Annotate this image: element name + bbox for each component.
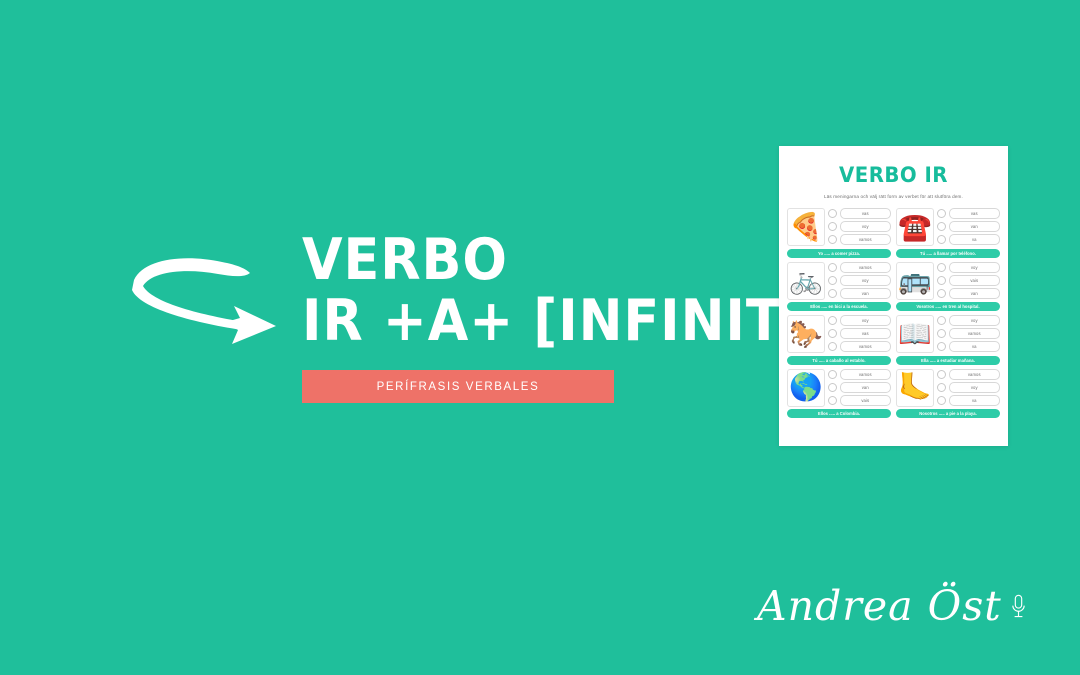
hero-block: VERBO IR +A+ [INFINITIVO] PERÍFRASIS VER…	[302, 233, 802, 403]
option-label[interactable]: voy	[949, 315, 1001, 326]
colombia-flag-globe-image: 🌎	[787, 369, 825, 407]
option-label[interactable]: vamos	[840, 234, 892, 245]
option-label[interactable]: vamos	[840, 262, 892, 273]
exercise-sentence: Ella ..... a estudiar mañana.	[896, 356, 1000, 365]
option-radio-button[interactable]	[828, 289, 837, 298]
worksheet-exercise-item: 🐎voyvasvamosTú ..... a caballo al establ…	[787, 315, 891, 365]
bicycle-icon: 🚲	[789, 267, 823, 294]
option-row: vamos	[937, 369, 1000, 380]
option-label[interactable]: vamos	[840, 369, 892, 380]
exercise-sentence: Vosotros ..... en tren al hospital.	[896, 302, 1000, 311]
bicycle-image: 🚲	[787, 262, 825, 300]
option-radio-button[interactable]	[937, 383, 946, 392]
option-row: vamos	[828, 369, 891, 380]
option-radio-button[interactable]	[828, 316, 837, 325]
bus-icon: 🚌	[898, 267, 932, 294]
option-label[interactable]: van	[840, 288, 892, 299]
option-label[interactable]: va	[949, 234, 1001, 245]
option-radio-button[interactable]	[937, 289, 946, 298]
exercise-row: 🦶vamosvoyva	[896, 369, 1000, 407]
telephone-image: ☎️	[896, 208, 934, 246]
option-radio-button[interactable]	[937, 370, 946, 379]
worksheet-exercise-item: 🌎vamosvanvaisEllos ..... a Colombia.	[787, 369, 891, 419]
option-row: voy	[828, 315, 891, 326]
option-radio-button[interactable]	[937, 342, 946, 351]
worksheet-exercise-item: 🍕vasvoyvamosYo ..... a comer pizza.	[787, 208, 891, 258]
option-label[interactable]: voy	[840, 275, 892, 286]
option-radio-button[interactable]	[828, 383, 837, 392]
exercise-row: 🍕vasvoyvamos	[787, 208, 891, 246]
bus-image: 🚌	[896, 262, 934, 300]
worksheet-preview-card[interactable]: VERBO IR Läs meningarna och välj rätt fo…	[779, 146, 1008, 446]
option-label[interactable]: van	[949, 288, 1001, 299]
worksheet-subtitle: Läs meningarna och välj rätt form av ver…	[779, 194, 1008, 199]
option-row: vais	[937, 275, 1000, 286]
option-row: va	[937, 395, 1000, 406]
page-title-line2: IR +A+ [INFINITIVO]	[302, 294, 762, 349]
option-row: vamos	[828, 341, 891, 352]
option-label[interactable]: va	[949, 395, 1001, 406]
worksheet-exercise-item: 🚌voyvaisvanVosotros ..... en tren al hos…	[896, 262, 1000, 312]
horse-image: 🐎	[787, 315, 825, 353]
option-radio-button[interactable]	[937, 316, 946, 325]
option-row: voy	[828, 275, 891, 286]
option-row: vas	[937, 208, 1000, 219]
option-radio-button[interactable]	[937, 276, 946, 285]
exercise-row: ☎️vasvanva	[896, 208, 1000, 246]
curved-arrow-icon	[126, 248, 292, 348]
option-label[interactable]: vamos	[840, 341, 892, 352]
option-row: voy	[937, 315, 1000, 326]
open-book-image: 📖	[896, 315, 934, 353]
option-label[interactable]: van	[840, 382, 892, 393]
worksheet-title: VERBO IR	[786, 163, 1001, 187]
option-label[interactable]: va	[949, 341, 1001, 352]
exercise-row: 🐎voyvasvamos	[787, 315, 891, 353]
option-row: vamos	[937, 328, 1000, 339]
option-list: vasvanva	[937, 208, 1000, 245]
telephone-icon: ☎️	[898, 214, 932, 241]
option-list: vasvoyvamos	[828, 208, 891, 245]
colombia-flag-globe-icon: 🌎	[789, 374, 823, 401]
foot-icon: 🦶	[898, 374, 932, 401]
option-label[interactable]: voy	[949, 382, 1001, 393]
page-title-line1: VERBO	[302, 233, 762, 288]
option-row: vais	[828, 395, 891, 406]
option-label[interactable]: vas	[949, 208, 1001, 219]
exercise-sentence: Tú ..... a caballo al establo.	[787, 356, 891, 365]
option-radio-button[interactable]	[828, 209, 837, 218]
option-radio-button[interactable]	[828, 370, 837, 379]
option-label[interactable]: voy	[949, 262, 1001, 273]
subtitle-badge: PERÍFRASIS VERBALES	[302, 370, 614, 403]
option-row: va	[937, 341, 1000, 352]
exercise-sentence: Nosotros ..... a pie a la playa.	[896, 409, 1000, 418]
option-radio-button[interactable]	[828, 342, 837, 351]
option-radio-button[interactable]	[937, 329, 946, 338]
option-radio-button[interactable]	[937, 396, 946, 405]
option-row: van	[937, 221, 1000, 232]
option-radio-button[interactable]	[828, 222, 837, 231]
option-radio-button[interactable]	[828, 329, 837, 338]
exercise-row: 📖voyvamosva	[896, 315, 1000, 353]
worksheet-exercise-item: 🦶vamosvoyvaNosotros ..... a pie a la pla…	[896, 369, 1000, 419]
exercise-sentence: Tú ..... a llamar por teléfono.	[896, 249, 1000, 258]
option-row: vamos	[828, 234, 891, 245]
horse-icon: 🐎	[789, 321, 823, 348]
option-label[interactable]: van	[949, 221, 1001, 232]
brand-signature: Andrea Öst	[757, 586, 1027, 627]
option-list: voyvaisvan	[937, 262, 1000, 299]
option-label[interactable]: vas	[840, 328, 892, 339]
option-row: vamos	[828, 262, 891, 273]
subtitle-badge-label: PERÍFRASIS VERBALES	[377, 381, 540, 393]
option-radio-button[interactable]	[937, 263, 946, 272]
exercise-row: 🚲vamosvoyvan	[787, 262, 891, 300]
exercise-row: 🌎vamosvanvais	[787, 369, 891, 407]
option-label[interactable]: vais	[840, 395, 892, 406]
option-radio-button[interactable]	[937, 209, 946, 218]
option-row: vas	[828, 208, 891, 219]
exercise-sentence: Yo ..... a comer pizza.	[787, 249, 891, 258]
option-row: voy	[828, 221, 891, 232]
option-label[interactable]: voy	[840, 315, 892, 326]
worksheet-exercise-item: ☎️vasvanvaTú ..... a llamar por teléfono…	[896, 208, 1000, 258]
option-radio-button[interactable]	[828, 235, 837, 244]
option-row: voy	[937, 382, 1000, 393]
option-radio-button[interactable]	[828, 263, 837, 272]
option-radio-button[interactable]	[937, 222, 946, 231]
option-list: voyvamosva	[937, 315, 1000, 352]
option-label[interactable]: vais	[949, 275, 1001, 286]
option-row: van	[828, 288, 891, 299]
option-radio-button[interactable]	[828, 396, 837, 405]
option-row: van	[828, 382, 891, 393]
worksheet-exercise-grid: 🍕vasvoyvamosYo ..... a comer pizza.☎️vas…	[779, 208, 1008, 418]
option-list: vamosvoyvan	[828, 262, 891, 299]
exercise-sentence: Ellos ..... a Colombia.	[787, 409, 891, 418]
option-label[interactable]: vamos	[949, 369, 1001, 380]
option-label[interactable]: vamos	[949, 328, 1001, 339]
pizza-icon: 🍕	[789, 214, 823, 241]
pizza-image: 🍕	[787, 208, 825, 246]
option-label[interactable]: vas	[840, 208, 892, 219]
exercise-row: 🚌voyvaisvan	[896, 262, 1000, 300]
option-row: voy	[937, 262, 1000, 273]
worksheet-exercise-item: 🚲vamosvoyvanEllos ..... en bici a la esc…	[787, 262, 891, 312]
option-row: van	[937, 288, 1000, 299]
option-row: va	[937, 234, 1000, 245]
option-list: voyvasvamos	[828, 315, 891, 352]
option-list: vamosvanvais	[828, 369, 891, 406]
option-radio-button[interactable]	[828, 276, 837, 285]
foot-image: 🦶	[896, 369, 934, 407]
open-book-icon: 📖	[898, 321, 932, 348]
exercise-sentence: Ellos ..... en bici a la escuela.	[787, 302, 891, 311]
option-row: vas	[828, 328, 891, 339]
option-radio-button[interactable]	[937, 235, 946, 244]
option-list: vamosvoyva	[937, 369, 1000, 406]
microphone-icon	[1010, 594, 1027, 620]
option-label[interactable]: voy	[840, 221, 892, 232]
signature-name: Andrea Öst	[757, 586, 1002, 627]
worksheet-exercise-item: 📖voyvamosvaElla ..... a estudiar mañana.	[896, 315, 1000, 365]
